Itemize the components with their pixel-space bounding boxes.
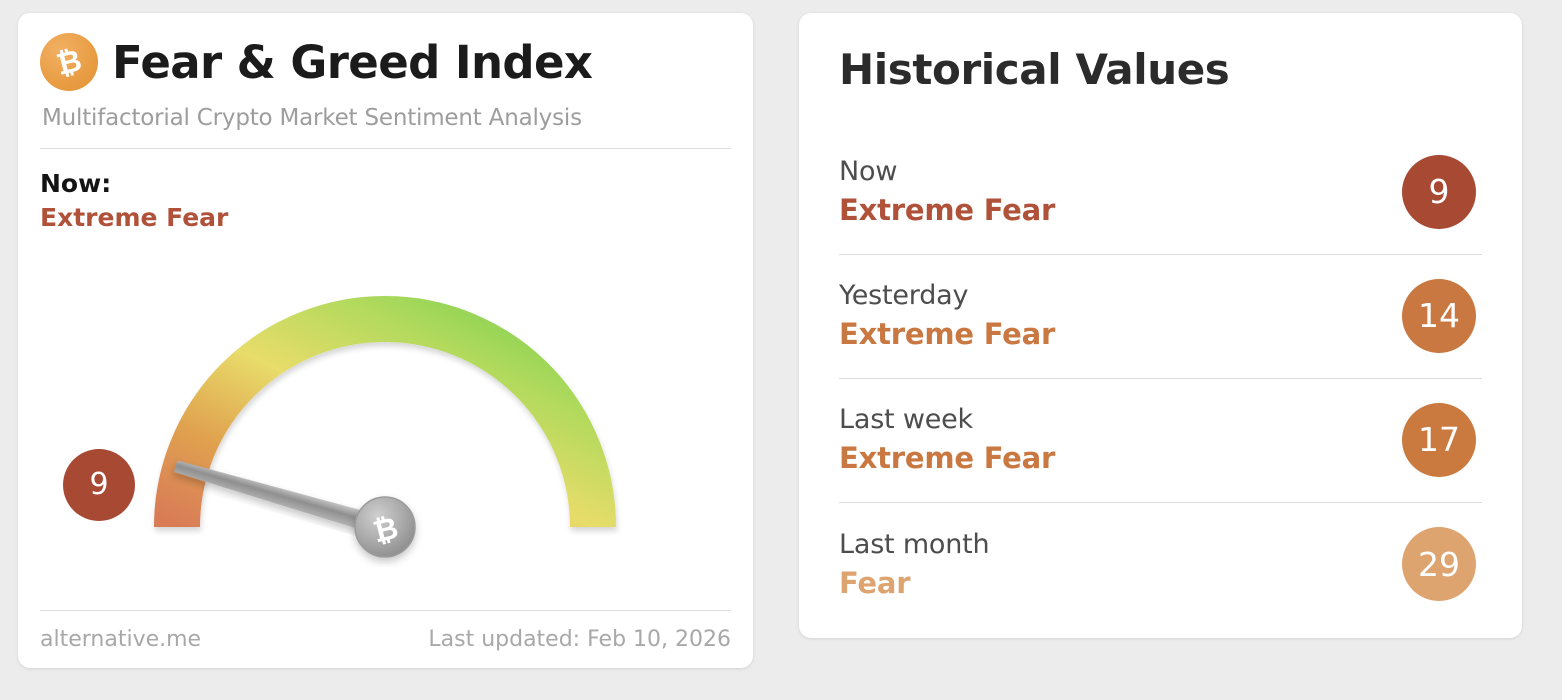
gauge-card-footer: alternative.me Last updated: Feb 10, 202… bbox=[40, 610, 731, 668]
history-row-text: Now Extreme Fear bbox=[839, 156, 1055, 227]
gauge-chart: ₿ 9 bbox=[40, 227, 731, 610]
page-subtitle: Multifactorial Crypto Market Sentiment A… bbox=[42, 105, 731, 131]
history-classification-label: Extreme Fear bbox=[839, 193, 1055, 227]
history-period-label: Last week bbox=[839, 404, 1055, 435]
status-badge: 14 bbox=[1402, 279, 1476, 353]
history-period-label: Last month bbox=[839, 529, 989, 560]
source-link[interactable]: alternative.me bbox=[40, 627, 201, 652]
list-item: Last month Fear 29 bbox=[839, 503, 1482, 627]
page-title: Fear & Greed Index bbox=[112, 40, 592, 85]
bitcoin-icon: ₿ bbox=[40, 33, 98, 91]
gauge-value-badge: 9 bbox=[63, 449, 135, 521]
gauge-arc-svg: ₿ bbox=[40, 227, 730, 567]
list-item: Yesterday Extreme Fear 14 bbox=[839, 255, 1482, 379]
now-label: Now: bbox=[40, 169, 731, 200]
historical-values-title: Historical Values bbox=[839, 49, 1482, 91]
brand-header: ₿ Fear & Greed Index bbox=[40, 33, 731, 91]
history-classification-label: Extreme Fear bbox=[839, 441, 1055, 475]
gauge-card: ₿ Fear & Greed Index Multifactorial Cryp… bbox=[18, 13, 753, 668]
status-badge: 17 bbox=[1402, 403, 1476, 477]
svg-text:₿: ₿ bbox=[53, 43, 85, 82]
history-period-label: Yesterday bbox=[839, 280, 1055, 311]
last-updated-text: Last updated: Feb 10, 2026 bbox=[428, 627, 731, 652]
gauge-gradient-arc bbox=[177, 319, 593, 527]
list-item: Now Extreme Fear 9 bbox=[839, 131, 1482, 255]
list-item: Last week Extreme Fear 17 bbox=[839, 379, 1482, 503]
history-row-text: Yesterday Extreme Fear bbox=[839, 280, 1055, 351]
history-period-label: Now bbox=[839, 156, 1055, 187]
history-classification-label: Extreme Fear bbox=[839, 317, 1055, 351]
history-row-text: Last month Fear bbox=[839, 529, 989, 600]
status-badge: 9 bbox=[1402, 155, 1476, 229]
historical-values-card: Historical Values Now Extreme Fear 9 Yes… bbox=[799, 13, 1522, 638]
fear-greed-dashboard: ₿ Fear & Greed Index Multifactorial Cryp… bbox=[0, 0, 1562, 700]
status-badge: 29 bbox=[1402, 527, 1476, 601]
current-value-block: Now: Extreme Fear bbox=[40, 169, 731, 233]
header-divider bbox=[40, 148, 731, 149]
bitcoin-needle-hub-icon: ₿ bbox=[355, 497, 415, 557]
historical-values-list: Now Extreme Fear 9 Yesterday Extreme Fea… bbox=[839, 131, 1482, 627]
history-row-text: Last week Extreme Fear bbox=[839, 404, 1055, 475]
history-classification-label: Fear bbox=[839, 566, 989, 600]
